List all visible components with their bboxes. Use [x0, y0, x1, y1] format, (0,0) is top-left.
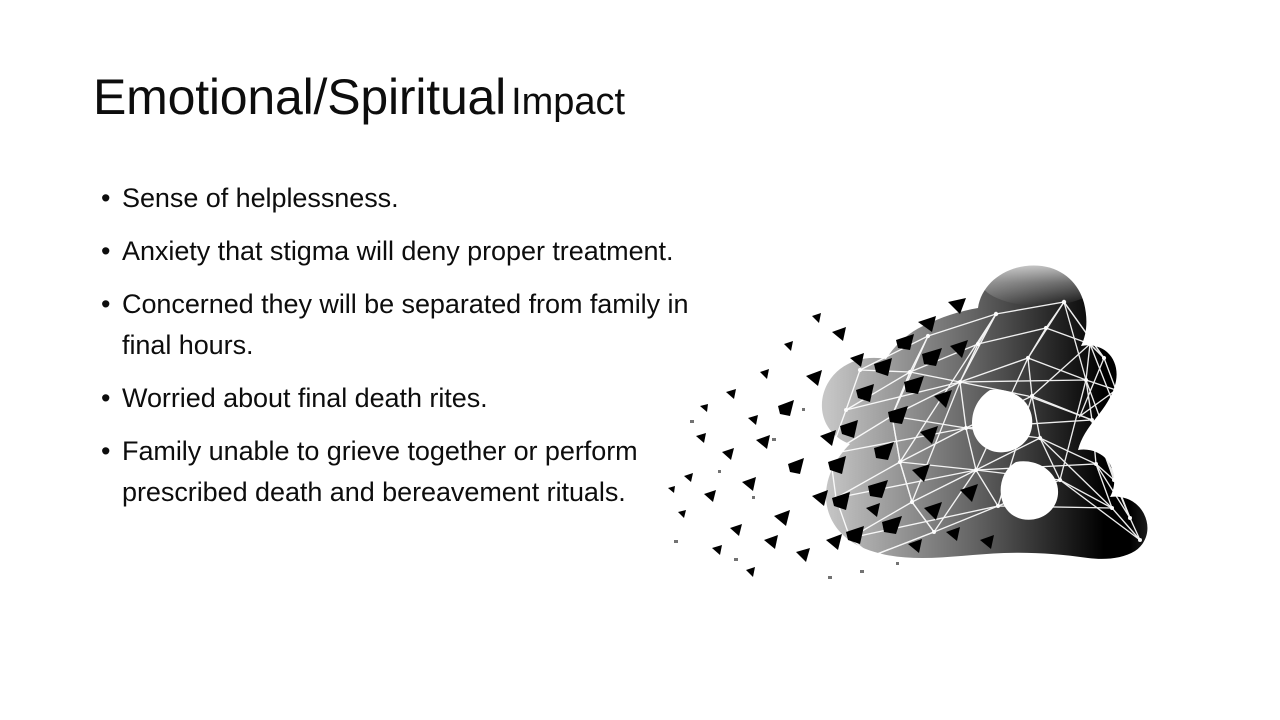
list-item-label: Family unable to grieve together or perf… — [122, 431, 721, 513]
bullet-marker-icon: • — [101, 284, 115, 325]
bullet-marker-icon: • — [101, 378, 115, 419]
bullet-marker-icon: • — [101, 431, 115, 472]
page-title: Emotional/SpiritualImpact — [93, 72, 1093, 122]
list-item: • Family unable to grieve together or pe… — [96, 431, 721, 513]
list-item: • Sense of helplessness. — [96, 178, 721, 219]
bullet-marker-icon: • — [101, 231, 115, 272]
list-item: • Anxiety that stigma will deny proper t… — [96, 231, 721, 272]
bullet-marker-icon: • — [101, 178, 115, 219]
list-item-label: Sense of helplessness. — [122, 178, 721, 219]
list-item-label: Concerned they will be separated from fa… — [122, 284, 721, 366]
page-title-main: Emotional/Spiritual — [93, 69, 506, 125]
list-item-label: Worried about final death rites. — [122, 378, 721, 419]
list-item: • Concerned they will be separated from … — [96, 284, 721, 366]
page-title-sub: Impact — [506, 81, 625, 123]
slide-canvas: Emotional/SpiritualImpact • Sense of hel… — [0, 0, 1280, 720]
list-item: • Worried about final death rites. — [96, 378, 721, 419]
bullet-list: • Sense of helplessness. • Anxiety that … — [96, 178, 721, 513]
shattered-kneeling-figure-image — [660, 240, 1260, 580]
list-item-label: Anxiety that stigma will deny proper tre… — [122, 231, 721, 272]
